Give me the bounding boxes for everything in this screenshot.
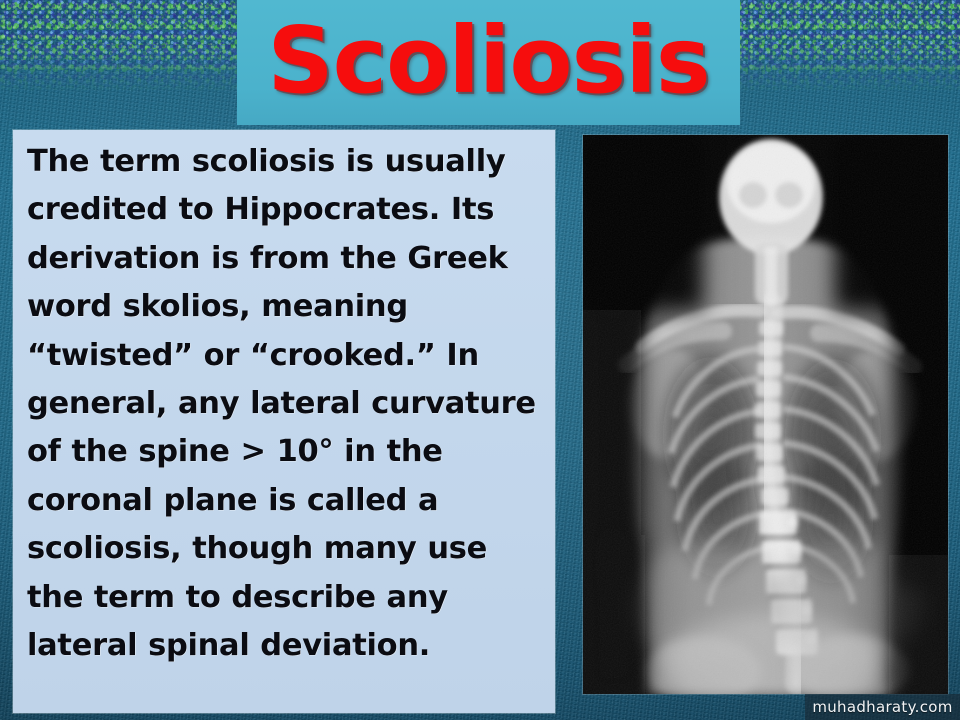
title-banner: Scoliosis <box>237 0 740 125</box>
watermark-label: muhadharaty.com <box>812 698 952 716</box>
body-text-panel: The term scoliosis is usually credited t… <box>13 130 555 713</box>
page-title: Scoliosis <box>267 15 709 107</box>
body-paragraph: The term scoliosis is usually credited t… <box>13 130 555 670</box>
spine-xray-icon <box>583 135 948 694</box>
slide-canvas: Scoliosis The term scoliosis is usually … <box>0 0 960 720</box>
spine-xray-image <box>583 135 948 694</box>
watermark-badge: muhadharaty.com <box>805 694 960 720</box>
